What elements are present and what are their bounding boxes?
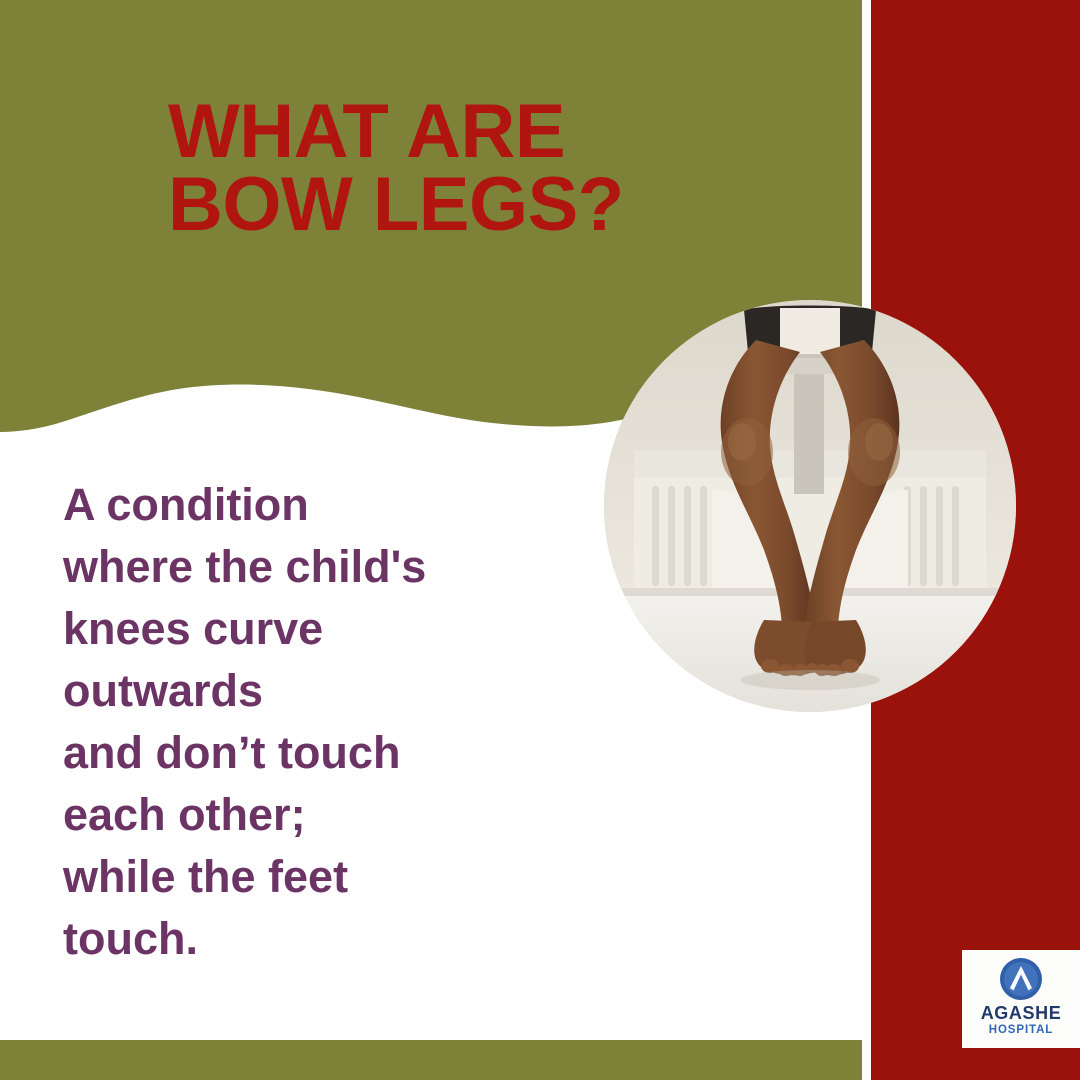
logo-name: AGASHE bbox=[981, 1003, 1062, 1023]
bow-legs-illustration bbox=[604, 300, 1016, 712]
page-title: WHAT ARE BOW LEGS? bbox=[168, 96, 808, 242]
agashe-chevron-icon bbox=[999, 957, 1043, 1001]
body-line-3: knees curve bbox=[63, 598, 583, 660]
body-line-1: A condition bbox=[63, 474, 583, 536]
body-line-5: and don’t touch bbox=[63, 722, 583, 784]
body-text: A condition where the child's knees curv… bbox=[63, 474, 583, 970]
logo-subtitle: HOSPITAL bbox=[989, 1023, 1054, 1037]
olive-footer-strip bbox=[0, 1040, 862, 1080]
title-line-1: WHAT ARE bbox=[168, 96, 808, 169]
title-line-2: BOW LEGS? bbox=[168, 169, 808, 242]
bow-legs-photo bbox=[604, 300, 1016, 712]
logo-card[interactable]: AGASHE HOSPITAL bbox=[962, 950, 1080, 1048]
body-line-8: touch. bbox=[63, 908, 583, 970]
poster-canvas: WHAT ARE BOW LEGS? A condition where the… bbox=[0, 0, 1080, 1080]
body-line-4: outwards bbox=[63, 660, 583, 722]
body-line-7: while the feet bbox=[63, 846, 583, 908]
body-line-6: each other; bbox=[63, 784, 583, 846]
body-line-2: where the child's bbox=[63, 536, 583, 598]
